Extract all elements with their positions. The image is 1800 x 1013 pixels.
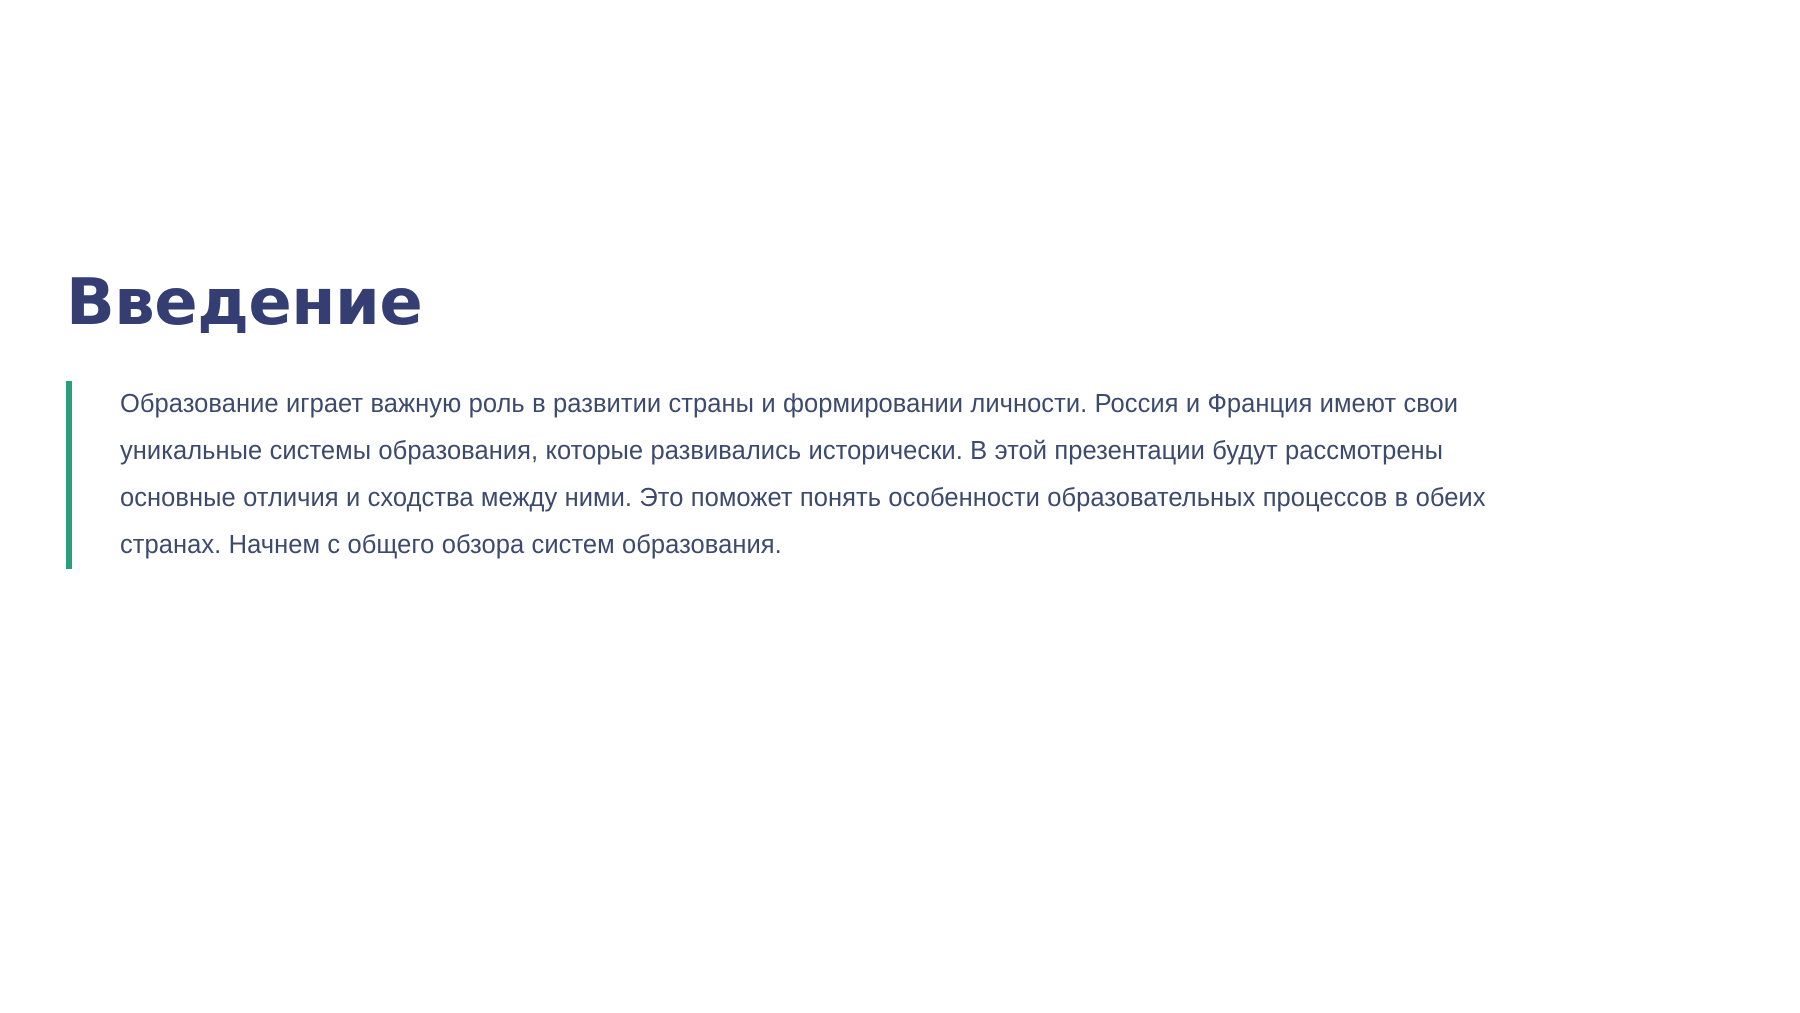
body-paragraph: Образование играет важную роль в развити… bbox=[72, 381, 1566, 569]
page-title: Введение bbox=[66, 271, 422, 335]
body-content-block: Образование играет важную роль в развити… bbox=[66, 381, 1566, 569]
slide-canvas: Введение Образование играет важную роль … bbox=[0, 0, 1800, 1013]
